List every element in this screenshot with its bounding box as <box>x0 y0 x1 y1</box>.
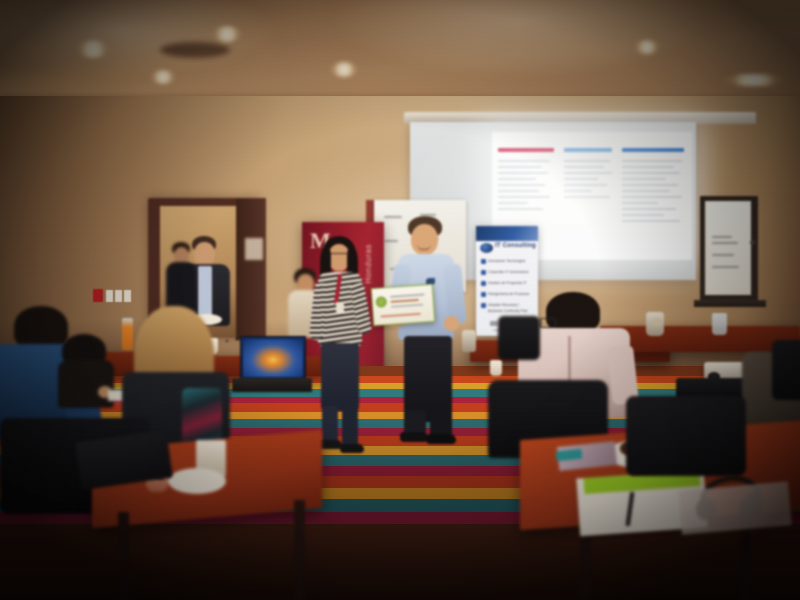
hair <box>14 306 68 348</box>
carafe-icon <box>652 318 662 326</box>
laptop-base <box>232 378 312 392</box>
banner-country-label: Honduras <box>364 244 373 284</box>
whiteboard-tall <box>705 201 751 295</box>
banner-service-row: Reingenieria de Procesos <box>481 292 529 297</box>
banner-service-row: Business Continuity Plan <box>488 309 528 313</box>
company-logo-icon <box>480 243 493 253</box>
glass-pitcher-icon <box>712 313 727 335</box>
downlight-icon <box>212 26 242 42</box>
photo-scene: IT Consulting Innovacion Tecnologica Cor… <box>0 0 800 600</box>
glasses-icon <box>330 253 349 258</box>
shirt <box>198 266 212 318</box>
head <box>411 224 438 255</box>
banner-service-label: Disaster Recovery / <box>488 303 519 307</box>
foreground-right-chair <box>626 396 746 476</box>
slide-header <box>498 148 554 152</box>
jeans <box>321 343 359 411</box>
whiteboard-sill <box>694 300 766 307</box>
hand <box>444 316 459 331</box>
door-jamb <box>236 198 266 340</box>
downlight-icon <box>722 74 786 86</box>
banner-service-label: Innovacion Tecnologica <box>488 259 525 263</box>
office-chair <box>772 340 800 400</box>
carafe-icon <box>462 330 476 352</box>
coffee-cup <box>490 360 502 376</box>
bullet-icon <box>481 270 486 275</box>
partner-logo-icon <box>490 321 498 326</box>
banner-service-row: Disaster Recovery / <box>481 303 519 308</box>
water-bottle <box>122 318 133 350</box>
light-switch-icon <box>106 290 113 302</box>
banner-title: IT Consulting <box>495 243 536 249</box>
downlight-icon <box>330 62 358 77</box>
banner-service-row: Corporate IT Governance <box>481 270 529 275</box>
downlight-icon <box>634 40 660 54</box>
leg <box>342 406 358 446</box>
slide-header <box>564 148 612 152</box>
whiteboard-knob <box>750 240 755 245</box>
bullet-icon <box>481 281 486 286</box>
laptop-wallpaper <box>243 339 303 377</box>
shoe-icon <box>400 432 428 442</box>
banner-service-label: Gestion de Proyectos IT <box>488 281 527 285</box>
downlight-icon <box>76 40 110 58</box>
office-chair <box>498 316 540 360</box>
bullet-icon <box>481 303 486 308</box>
table-leg <box>118 512 129 600</box>
laptop-screen <box>240 336 306 380</box>
downlight-icon <box>150 70 176 84</box>
banner-service-row: Gestion de Proyectos IT <box>481 281 527 286</box>
bullet-icon <box>481 259 486 264</box>
head <box>194 242 215 266</box>
laptop-screen-secondary <box>236 338 238 340</box>
slide-column <box>564 160 618 202</box>
shoe-icon <box>426 434 456 444</box>
table-leg <box>294 500 305 600</box>
glasses-icon <box>540 318 556 328</box>
slide-column <box>498 160 552 214</box>
badge-icon <box>336 302 344 312</box>
bullet-icon <box>481 292 486 297</box>
banner-service-label: Reingenieria de Procesos <box>488 292 529 296</box>
ceiling-vent-icon <box>160 42 230 58</box>
laptop-screen <box>226 340 228 342</box>
banner-service-label: Business Continuity Plan <box>488 309 528 313</box>
light-switch-icon <box>115 290 122 302</box>
slide-header <box>622 148 684 152</box>
certificate-group <box>371 284 435 326</box>
shoe-icon <box>340 444 364 453</box>
wall-picture <box>245 238 263 260</box>
banner-service-label: Corporate IT Governance <box>488 270 529 274</box>
fire-alarm-icon <box>93 289 103 302</box>
banner-service-row: Innovacion Tecnologica <box>481 259 525 264</box>
light-switch-icon <box>124 290 131 302</box>
banner-header-bar <box>476 226 538 241</box>
torso <box>58 360 114 408</box>
plate-icon <box>168 468 226 494</box>
slide-column <box>622 160 684 226</box>
